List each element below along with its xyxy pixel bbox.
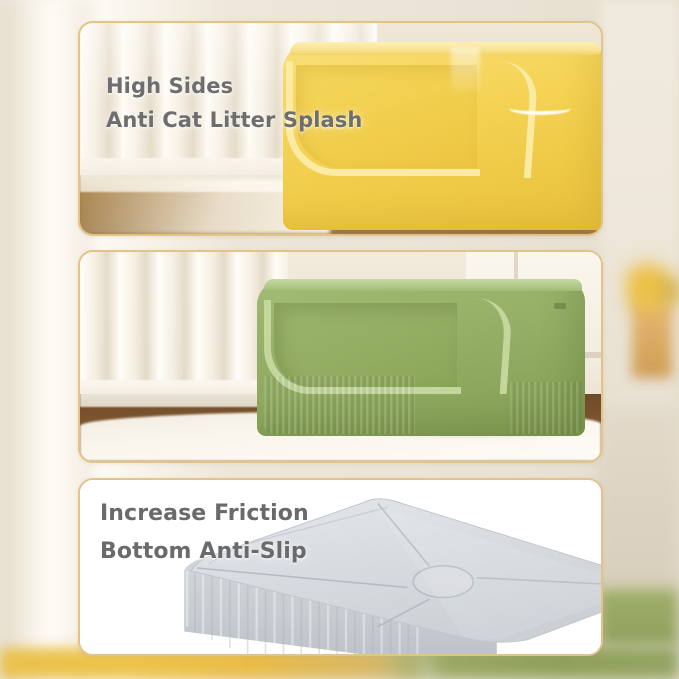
green-box-notch — [554, 303, 566, 309]
feature-panel-anti-slip: Increase Friction Bottom Anti-Slip — [78, 478, 603, 656]
litter-box-base-illustration — [80, 480, 601, 654]
feature-panel-high-sides: High Sides Anti Cat Litter Splash — [78, 21, 603, 236]
yellow-litter-box — [283, 44, 601, 230]
yellow-box-highlight — [451, 48, 480, 96]
background-flower-secondary — [655, 272, 679, 310]
panel-1-scene — [80, 23, 601, 234]
yellow-box-handle-grip — [509, 102, 570, 115]
feature-panel-no-gaps: No gaps Easy to Clean — [78, 250, 603, 463]
background-sideboard — [596, 408, 679, 588]
feature-collage: High Sides Anti Cat Litter Splash — [0, 0, 679, 679]
green-box-scoop-lip-right — [441, 298, 513, 394]
green-box-back-rim — [264, 279, 582, 291]
green-box-ribbing-right — [510, 382, 582, 435]
panel-2-scene — [80, 252, 601, 461]
background-green-object — [598, 588, 679, 646]
yellow-box-back-rim — [290, 42, 600, 55]
green-box-ribbing-left — [264, 376, 415, 435]
green-litter-box — [257, 281, 585, 436]
panel-3-scene — [80, 480, 601, 654]
